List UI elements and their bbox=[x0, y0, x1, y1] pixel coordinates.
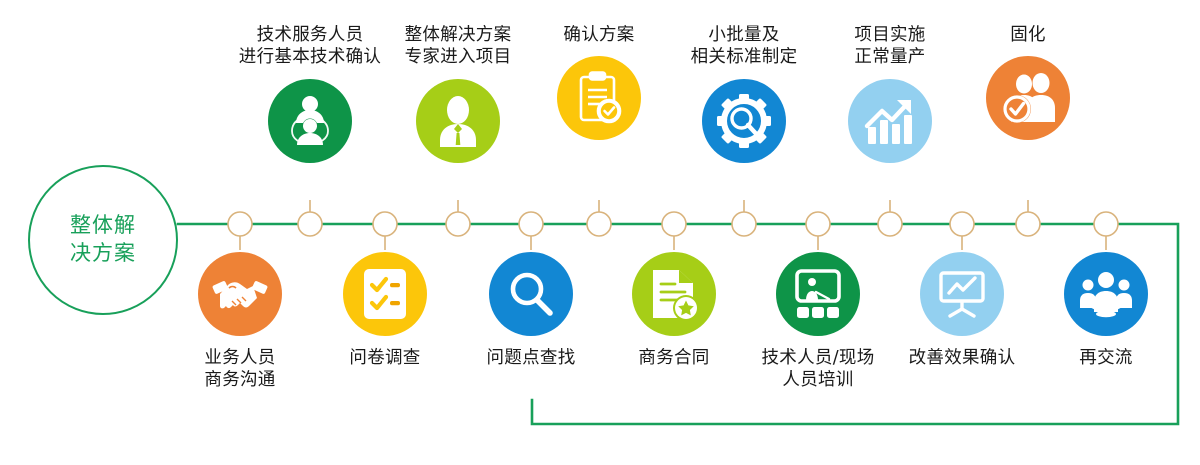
people-check-icon[interactable] bbox=[986, 56, 1070, 140]
step-label: 小批量及 相关标准制定 bbox=[691, 24, 798, 69]
step-questionnaire-survey[interactable]: 问卷调查 bbox=[300, 252, 470, 369]
step-label: 项目实施 正常量产 bbox=[854, 24, 925, 69]
step-solidify[interactable]: 固化 bbox=[943, 24, 1113, 140]
step-label: 问卷调查 bbox=[349, 347, 420, 369]
step-label: 再交流 bbox=[1079, 347, 1132, 369]
hub-label-line1: 整体解 bbox=[70, 212, 136, 240]
presentation-chart-icon[interactable] bbox=[920, 252, 1004, 336]
step-label: 整体解决方案 专家进入项目 bbox=[405, 24, 512, 69]
two-people-icon[interactable] bbox=[268, 79, 352, 163]
magnifier-icon[interactable] bbox=[489, 252, 573, 336]
node-marker bbox=[298, 212, 322, 236]
gear-search-icon[interactable] bbox=[702, 79, 786, 163]
node-marker bbox=[587, 212, 611, 236]
growth-chart-icon[interactable] bbox=[848, 79, 932, 163]
document-star-icon[interactable] bbox=[632, 252, 716, 336]
checklist-form-icon[interactable] bbox=[343, 252, 427, 336]
step-label: 业务人员 商务沟通 bbox=[204, 347, 275, 392]
node-marker bbox=[806, 212, 830, 236]
node-marker bbox=[732, 212, 756, 236]
step-small-batch-standards[interactable]: 小批量及 相关标准制定 bbox=[659, 24, 829, 163]
step-label: 确认方案 bbox=[563, 24, 634, 46]
step-label: 问题点查找 bbox=[487, 347, 576, 369]
step-label: 商务合同 bbox=[638, 347, 709, 369]
node-marker bbox=[950, 212, 974, 236]
node-marker bbox=[446, 212, 470, 236]
node-marker bbox=[1094, 212, 1118, 236]
clipboard-check-icon[interactable] bbox=[557, 56, 641, 140]
step-label: 技术人员/现场 人员培训 bbox=[762, 347, 875, 392]
step-technical-confirmation[interactable]: 技术服务人员 进行基本技术确认 bbox=[225, 24, 395, 163]
team-network-icon[interactable] bbox=[1064, 252, 1148, 336]
step-label: 固化 bbox=[1010, 24, 1046, 46]
node-marker bbox=[228, 212, 252, 236]
node-marker bbox=[878, 212, 902, 236]
node-marker bbox=[373, 212, 397, 236]
step-label: 改善效果确认 bbox=[909, 347, 1016, 369]
node-marker bbox=[662, 212, 686, 236]
node-markers bbox=[228, 200, 1118, 250]
step-label: 技术服务人员 进行基本技术确认 bbox=[239, 24, 381, 69]
hub-label-line2: 决方案 bbox=[70, 240, 136, 268]
node-marker bbox=[519, 212, 543, 236]
handshake-icon[interactable] bbox=[198, 252, 282, 336]
training-board-icon[interactable] bbox=[776, 252, 860, 336]
person-suit-icon[interactable] bbox=[416, 79, 500, 163]
node-marker bbox=[1016, 212, 1040, 236]
infographic-canvas: 整体解 决方案 技术服务人员 进行基本技术确认 整体解决方案 专家进入项目 bbox=[0, 0, 1200, 465]
step-re-communication[interactable]: 再交流 bbox=[1021, 252, 1191, 369]
